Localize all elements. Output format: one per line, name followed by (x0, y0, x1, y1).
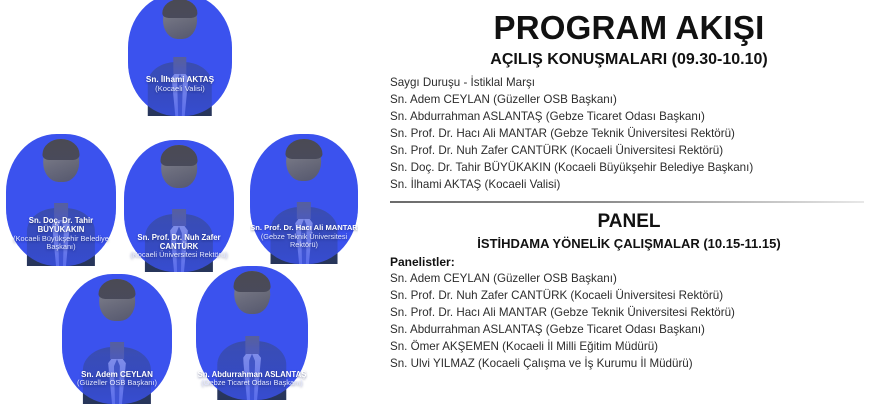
list-item: Sn. Prof. Dr. Hacı Ali MANTAR (Gebze Tek… (390, 126, 870, 143)
portrait-card-aktas: Sn. İlhami AKTAŞ (Kocaeli Valisi) (128, 0, 232, 116)
hair-shape (161, 145, 198, 165)
portrait-role: (Kocaeli Valisi) (128, 85, 232, 94)
neck-shape (174, 57, 187, 73)
portrait-caption: Sn. Doç. Dr. Tahir BÜYÜKAKIN (Kocaeli Bü… (6, 216, 116, 252)
portrait-name: Sn. Doç. Dr. Tahir BÜYÜKAKIN (6, 216, 116, 234)
list-item: Sn. İlhami AKTAŞ (Kocaeli Valisi) (390, 177, 870, 194)
list-item: Sn. Prof. Dr. Nuh Zafer CANTÜRK (Kocaeli… (390, 288, 870, 305)
neck-shape (172, 209, 186, 227)
list-item: Sn. Abdurrahman ASLANTAŞ (Gebze Ticaret … (390, 322, 870, 339)
portrait-card-aslantas: Sn. Abdurrahman ASLANTAŞ (Gebze Ticaret … (196, 266, 308, 400)
portrait-caption: Sn. Prof. Dr. Nuh Zafer CANTÜRK (Kocaeli… (124, 233, 234, 260)
opening-speaker-list: Saygı Duruşu - İstiklal Marşı Sn. Adem C… (388, 68, 870, 194)
program-poster: Sn. İlhami AKTAŞ (Kocaeli Valisi) Sn. Do… (0, 0, 870, 400)
portrait-role: (Kocaeli Üniversitesi Rektörü) (124, 251, 234, 260)
portrait-name: Sn. Prof. Dr. Nuh Zafer CANTÜRK (124, 233, 234, 251)
program-text-column: PROGRAM AKIŞI AÇILIŞ KONUŞMALARI (09.30-… (388, 0, 870, 400)
portrait-card-canturk: Sn. Prof. Dr. Nuh Zafer CANTÜRK (Kocaeli… (124, 140, 234, 272)
portrait-caption: Sn. Prof. Dr. Hacı Ali MANTAR (Gebze Tek… (250, 224, 358, 250)
opening-session-subtitle: AÇILIŞ KONUŞMALARI (09.30-10.10) (388, 44, 870, 68)
list-item: Sn. Adem CEYLAN (Güzeller OSB Başkanı) (390, 92, 870, 109)
hair-shape (163, 0, 198, 18)
list-item: Sn. Prof. Dr. Hacı Ali MANTAR (Gebze Tek… (390, 305, 870, 322)
portrait-role: (Gebze Ticaret Odası Başkanı) (196, 379, 308, 388)
neck-shape (110, 342, 124, 359)
list-item: Sn. Ömer AKŞEMEN (Kocaeli İl Milli Eğiti… (390, 339, 870, 356)
list-item: Sn. Abdurrahman ASLANTAŞ (Gebze Ticaret … (390, 109, 870, 126)
portrait-role: (Gebze Teknik Üniversitesi Rektörü) (250, 233, 358, 250)
hair-shape (286, 139, 322, 159)
list-item: Sn. Prof. Dr. Nuh Zafer CANTÜRK (Kocaeli… (390, 143, 870, 160)
portrait-card-buyukakin: Sn. Doç. Dr. Tahir BÜYÜKAKIN (Kocaeli Bü… (6, 134, 116, 266)
list-item: Sn. Adem CEYLAN (Güzeller OSB Başkanı) (390, 271, 870, 288)
portrait-caption: Sn. İlhami AKTAŞ (Kocaeli Valisi) (128, 75, 232, 94)
portrait-caption: Sn. Adem CEYLAN (Güzeller OSB Başkanı) (62, 370, 172, 388)
neck-shape (297, 202, 310, 219)
portrait-role: (Kocaeli Büyükşehir Belediye Başkanı) (6, 235, 116, 252)
portrait-card-ceylan: Sn. Adem CEYLAN (Güzeller OSB Başkanı) (62, 274, 172, 404)
panelists-label: Panelistler: (388, 250, 870, 268)
list-item: Sn. Ulvi YILMAZ (Kocaeli Çalışma ve İş K… (390, 356, 870, 373)
hair-shape (233, 271, 270, 292)
hair-shape (43, 139, 80, 159)
portrait-card-mantar: Sn. Prof. Dr. Hacı Ali MANTAR (Gebze Tek… (250, 134, 358, 264)
panelist-list: Sn. Adem CEYLAN (Güzeller OSB Başkanı) S… (388, 268, 870, 373)
panel-subtitle: İSTİHDAMA YÖNELİK ÇALIŞMALAR (10.15-11.1… (388, 231, 870, 250)
page-title: PROGRAM AKIŞI (388, 0, 870, 44)
neck-shape (245, 336, 259, 354)
list-item: Saygı Duruşu - İstiklal Marşı (390, 75, 870, 92)
portrait-photo (148, 0, 212, 116)
hair-shape (99, 279, 136, 299)
list-item: Sn. Doç. Dr. Tahir BÜYÜKAKIN (Kocaeli Bü… (390, 160, 870, 177)
portrait-caption: Sn. Abdurrahman ASLANTAŞ (Gebze Ticaret … (196, 370, 308, 388)
panel-title: PANEL (388, 203, 870, 231)
portrait-role: (Güzeller OSB Başkanı) (62, 379, 172, 388)
portrait-collage: Sn. İlhami AKTAŞ (Kocaeli Valisi) Sn. Do… (0, 0, 380, 400)
